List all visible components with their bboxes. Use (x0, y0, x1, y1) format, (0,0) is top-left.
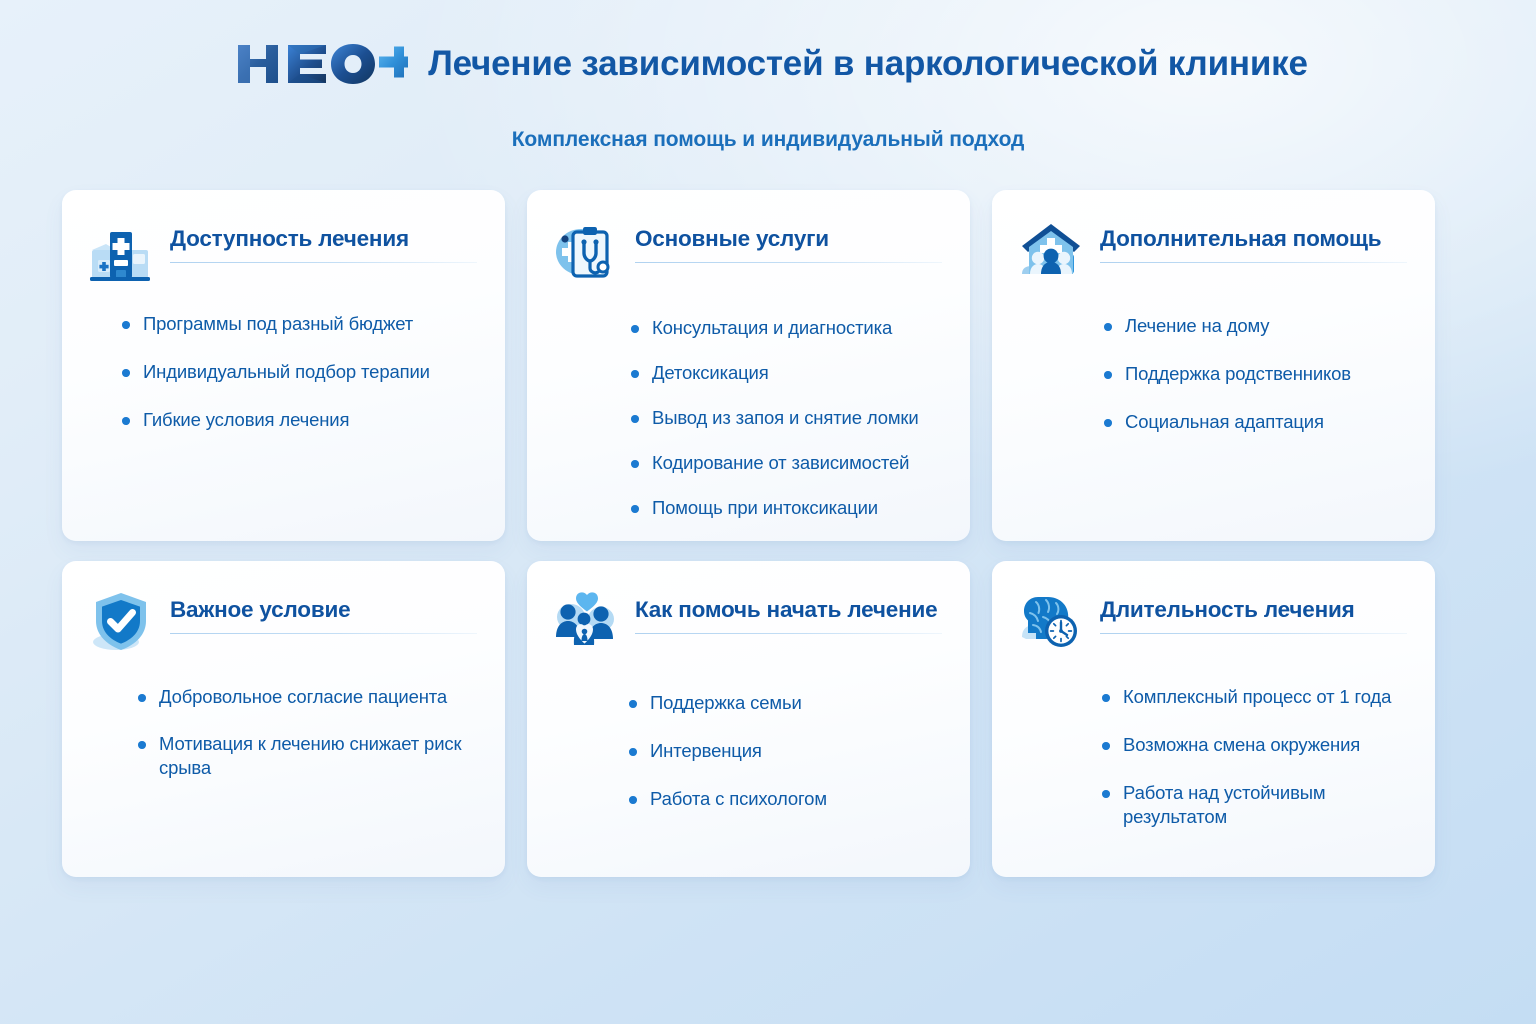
list-item: Индивидуальный подбор терапии (122, 360, 477, 384)
list-item: Вывод из запоя и снятие ломки (631, 406, 942, 430)
cards-grid: Доступность лечения Программы под разный… (62, 190, 1475, 877)
list-item: Мотивация к лечению снижает риск срыва (138, 732, 477, 780)
infographic-page: Лечение зависимостей в наркологической к… (0, 0, 1536, 1024)
card-header: Дополнительная помощь (1016, 216, 1407, 290)
list-item: Поддержка родственников (1104, 362, 1407, 386)
card-heading-block: Основные услуги (635, 216, 942, 263)
card-header: Как помочь начать лечение (551, 587, 942, 661)
neo-plus-logo (232, 37, 408, 89)
list-item: Детоксикация (631, 361, 942, 385)
list-item: Гибкие условия лечения (122, 408, 477, 432)
list-item: Комплексный процесс от 1 года (1102, 685, 1407, 709)
bullet-list: Лечение на дому Поддержка родственников … (1016, 314, 1407, 434)
header: Лечение зависимостей в наркологической к… (0, 30, 1536, 96)
list-item: Консультация и диагностика (631, 316, 942, 340)
title-divider (170, 262, 477, 263)
card-heading-block: Как помочь начать лечение (635, 587, 942, 634)
card-header: Важное условие (86, 587, 477, 661)
list-item: Работа с психологом (629, 787, 942, 811)
clipboard-stethoscope-icon (551, 216, 621, 286)
card-header: Длительность лечения (1016, 587, 1407, 661)
page-subtitle: Комплексная помощь и индивидуальный подх… (512, 128, 1025, 152)
list-item: Кодирование от зависимостей (631, 451, 942, 475)
list-item: Интервенция (629, 739, 942, 763)
title-divider (1100, 633, 1407, 634)
bullet-list: Комплексный процесс от 1 года Возможна с… (1016, 685, 1407, 829)
bullet-list: Добровольное согласие пациента Мотивация… (86, 685, 477, 780)
list-item: Добровольное согласие пациента (138, 685, 477, 709)
card-title: Дополнительная помощь (1100, 226, 1407, 251)
card-kak-pomoch-nachat-lechenie[interactable]: Как помочь начать лечение Поддержка семь… (527, 561, 970, 877)
brain-clock-icon (1016, 587, 1086, 657)
bullet-list: Консультация и диагностика Детоксикация … (551, 316, 942, 520)
card-heading-block: Дополнительная помощь (1100, 216, 1407, 263)
list-item: Возможна смена окружения (1102, 733, 1407, 757)
card-dopolnitelnaya-pomoshch[interactable]: Дополнительная помощь Лечение на дому По… (992, 190, 1435, 541)
card-osnovnye-uslugi[interactable]: Основные услуги Консультация и диагности… (527, 190, 970, 541)
list-item: Работа над устойчивым результатом (1102, 781, 1407, 829)
list-item: Программы под разный бюджет (122, 312, 477, 336)
card-title: Длительность лечения (1100, 597, 1407, 622)
page-title: Лечение зависимостей в наркологической к… (428, 46, 1308, 81)
card-vazhnoe-uslovie[interactable]: Важное условие Добровольное согласие пац… (62, 561, 505, 877)
card-title: Основные услуги (635, 226, 942, 251)
card-title: Доступность лечения (170, 226, 477, 251)
card-header: Основные услуги (551, 216, 942, 290)
card-title: Важное условие (170, 597, 477, 622)
card-heading-block: Доступность лечения (170, 216, 477, 263)
hospital-building-icon (86, 216, 156, 286)
list-item: Поддержка семьи (629, 691, 942, 715)
subtitle-container: Комплексная помощь и индивидуальный подх… (0, 128, 1536, 152)
title-divider (1100, 262, 1407, 263)
title-divider (170, 633, 477, 634)
house-family-icon (1016, 216, 1086, 286)
card-title: Как помочь начать лечение (635, 597, 942, 622)
card-dostupnost-lecheniya[interactable]: Доступность лечения Программы под разный… (62, 190, 505, 541)
title-divider (635, 633, 942, 634)
title-divider (635, 262, 942, 263)
card-heading-block: Длительность лечения (1100, 587, 1407, 634)
list-item: Лечение на дому (1104, 314, 1407, 338)
card-header: Доступность лечения (86, 216, 477, 290)
list-item: Социальная адаптация (1104, 410, 1407, 434)
card-heading-block: Важное условие (170, 587, 477, 634)
list-item: Помощь при интоксикации (631, 496, 942, 520)
bullet-list: Поддержка семьи Интервенция Работа с пси… (551, 691, 942, 811)
card-dlitelnost-lecheniya[interactable]: Длительность лечения Комплексный процесс… (992, 561, 1435, 877)
shield-check-icon (86, 587, 156, 657)
bullet-list: Программы под разный бюджет Индивидуальн… (86, 312, 477, 432)
family-heart-icon (551, 587, 621, 657)
